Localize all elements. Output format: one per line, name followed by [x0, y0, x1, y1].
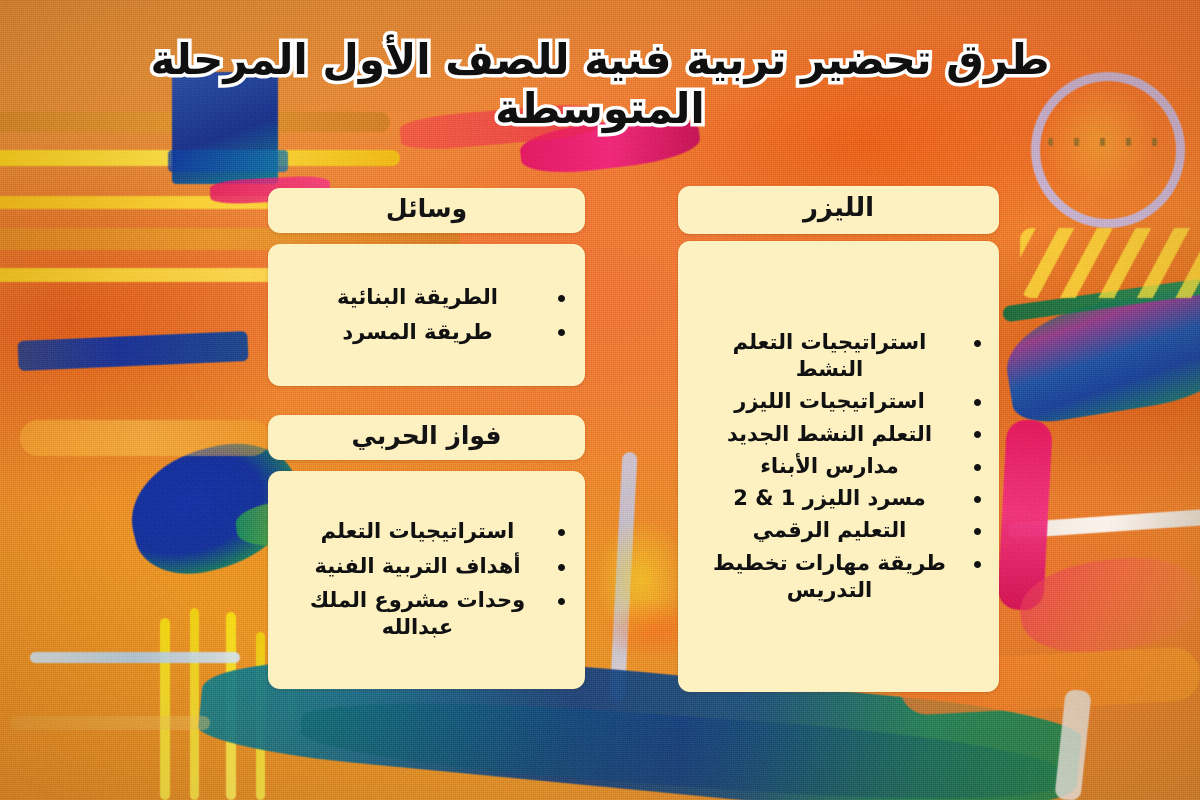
card-fawaz-heading: فواز الحربي	[268, 415, 585, 460]
bullet-icon	[558, 564, 565, 571]
card-laser-list: استراتيجيات التعلم النشط استراتيجيات الل…	[688, 324, 989, 610]
card-wasael-body: الطريقة البنائية طريقة المسرد	[268, 244, 585, 386]
bullet-icon	[974, 464, 981, 471]
card-fawaz-alharbi: فواز الحربي استراتيجيات التعلم أهداف الت…	[268, 415, 585, 689]
list-item[interactable]: التعليم الرقمي	[688, 517, 989, 544]
bullet-icon	[974, 431, 981, 438]
bullet-icon	[974, 528, 981, 535]
card-wasael-heading: وسائل	[268, 188, 585, 233]
list-item[interactable]: طريقة مهارات تخطيط التدريس	[688, 550, 989, 605]
page-title: طرق تحضير تربية فنية للصف الأول المرحلة …	[60, 36, 1140, 133]
list-item-label: مدارس الأبناء	[760, 454, 899, 478]
bullet-icon	[558, 295, 565, 302]
bullet-icon	[974, 561, 981, 568]
list-item[interactable]: مسرد الليزر 1 & 2	[688, 485, 989, 512]
card-wasael: وسائل الطريقة البنائية طريقة المسرد	[268, 188, 585, 386]
card-laser-heading: الليزر	[678, 186, 999, 234]
card-laser: الليزر استراتيجيات التعلم النشط استراتيج…	[678, 186, 999, 692]
list-item-label: طريقة مهارات تخطيط التدريس	[713, 551, 946, 602]
list-item-label: استراتيجيات التعلم النشط	[733, 330, 927, 381]
list-item-label: طريقة المسرد	[342, 320, 492, 344]
list-item-label: التعلم النشط الجديد	[727, 422, 932, 446]
list-item[interactable]: طريقة المسرد	[280, 319, 573, 346]
bullet-icon	[558, 598, 565, 605]
bullet-icon	[558, 529, 565, 536]
list-item-label: التعليم الرقمي	[753, 518, 907, 542]
list-item[interactable]: مدارس الأبناء	[688, 453, 989, 480]
poster-canvas: طرق تحضير تربية فنية للصف الأول المرحلة …	[0, 0, 1200, 800]
list-item[interactable]: التعلم النشط الجديد	[688, 421, 989, 448]
list-item[interactable]: استراتيجيات التعلم	[280, 518, 573, 545]
list-item-label: مسرد الليزر 1 & 2	[733, 486, 925, 510]
bullet-icon	[558, 329, 565, 336]
list-item-label: الطريقة البنائية	[337, 285, 498, 309]
bullet-icon	[974, 496, 981, 503]
card-fawaz-body: استراتيجيات التعلم أهداف التربية الفنية …	[268, 471, 585, 689]
poster-title-area: طرق تحضير تربية فنية للصف الأول المرحلة …	[0, 8, 1200, 162]
bullet-icon	[974, 399, 981, 406]
list-item-label: وحدات مشروع الملك عبدالله	[310, 588, 525, 639]
list-item-label: استراتيجيات الليزر	[734, 389, 925, 413]
card-laser-body: استراتيجيات التعلم النشط استراتيجيات الل…	[678, 241, 999, 692]
list-item[interactable]: استراتيجيات التعلم النشط	[688, 329, 989, 384]
list-item[interactable]: الطريقة البنائية	[280, 284, 573, 311]
card-wasael-list: الطريقة البنائية طريقة المسرد	[280, 277, 573, 353]
card-fawaz-list: استراتيجيات التعلم أهداف التربية الفنية …	[280, 511, 573, 648]
list-item[interactable]: أهداف التربية الفنية	[280, 553, 573, 580]
list-item-label: أهداف التربية الفنية	[314, 554, 520, 578]
list-item[interactable]: وحدات مشروع الملك عبدالله	[280, 587, 573, 642]
bullet-icon	[974, 340, 981, 347]
list-item-label: استراتيجيات التعلم	[321, 519, 515, 543]
list-item[interactable]: استراتيجيات الليزر	[688, 388, 989, 415]
